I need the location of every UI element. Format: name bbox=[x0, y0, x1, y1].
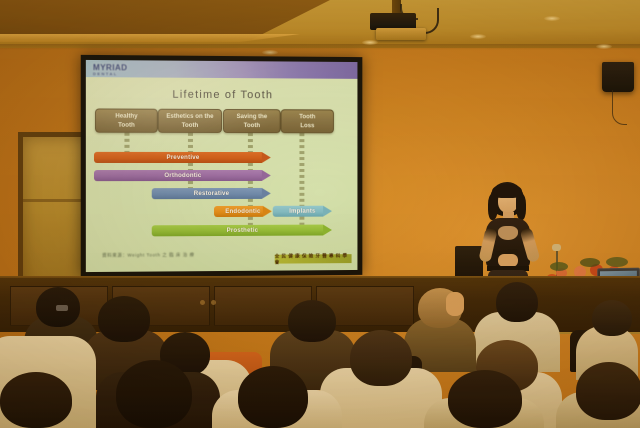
foliage bbox=[606, 257, 628, 267]
audience-head bbox=[350, 330, 412, 386]
bar-implants: Implants bbox=[273, 206, 332, 217]
bar-restorative: Restorative bbox=[152, 188, 271, 199]
downlight-icon bbox=[544, 16, 560, 21]
bar-arrow-tip bbox=[323, 206, 332, 217]
audience-head bbox=[448, 370, 522, 428]
bar-label: Endodontic bbox=[225, 208, 260, 215]
foliage bbox=[550, 262, 568, 271]
audience-head bbox=[98, 296, 150, 342]
bar-label: Restorative bbox=[194, 190, 229, 197]
audience-head bbox=[592, 300, 632, 336]
audience-head bbox=[238, 366, 308, 428]
audience-head bbox=[288, 300, 336, 342]
speaker-cable bbox=[612, 90, 627, 125]
bar-label: Preventive bbox=[166, 154, 199, 161]
wainscot-knob bbox=[200, 300, 205, 305]
audience-glasses-icon bbox=[56, 305, 68, 311]
connector-line bbox=[124, 133, 129, 153]
column-header-line2: Tooth bbox=[166, 121, 213, 130]
downlight-icon bbox=[470, 34, 486, 39]
bar-arrow-tip bbox=[262, 152, 271, 163]
slide-footer-badge: 全 民 健 康 保 險 牙 醫 專 科 學 會 bbox=[275, 254, 352, 263]
bar-prosthetic: Prosthetic bbox=[152, 225, 332, 237]
downlight-icon bbox=[596, 44, 612, 49]
bar-arrow-tip bbox=[262, 170, 271, 181]
projection-screen-frame: MYRIAD DENTAL Lifetime of Tooth Healthy … bbox=[81, 55, 363, 277]
column-header-line1: Healthy bbox=[115, 112, 137, 121]
audience-head bbox=[116, 360, 192, 428]
foliage bbox=[580, 258, 600, 267]
downlight-icon bbox=[362, 40, 378, 45]
downlight-icon bbox=[262, 50, 278, 55]
presenter-hair-side bbox=[488, 194, 498, 220]
bar-arrow-tip bbox=[263, 206, 272, 217]
bar-orthodontic: Orthodontic bbox=[94, 170, 271, 181]
column-header-line1: Esthetics on the bbox=[166, 112, 213, 121]
audience-head bbox=[576, 362, 640, 420]
audience-head bbox=[0, 372, 72, 428]
column-header-line1: Tooth bbox=[299, 112, 315, 121]
bar-label: Orthodontic bbox=[164, 172, 201, 179]
presentation-photo-scene: MYRIAD DENTAL Lifetime of Tooth Healthy … bbox=[0, 0, 640, 428]
bar-arrow-tip bbox=[262, 188, 271, 199]
bar-label: Implants bbox=[289, 208, 315, 215]
bar-preventive: Preventive bbox=[94, 152, 271, 163]
slide-footer-note: 資料來源：Weight Tooth 之 臨 床 治 療 bbox=[102, 252, 195, 259]
column-header-healthy-tooth: Healthy Tooth bbox=[95, 108, 158, 132]
presenter-hair-side bbox=[516, 194, 526, 220]
ceiling-edge-shadow bbox=[0, 44, 640, 50]
slide-title: Lifetime of Tooth bbox=[86, 88, 358, 101]
bar-endodontic: Endodontic bbox=[214, 206, 272, 217]
wall-speaker-icon bbox=[602, 62, 634, 92]
audience-head bbox=[496, 282, 538, 322]
bar-label: Prosthetic bbox=[227, 227, 259, 234]
slide-diagram: Healthy Tooth Esthetics on the Tooth Sav… bbox=[86, 108, 358, 239]
column-header-saving: Saving the Tooth bbox=[223, 109, 281, 133]
projected-slide: MYRIAD DENTAL Lifetime of Tooth Healthy … bbox=[86, 60, 358, 272]
column-header-line1: Saving the bbox=[237, 112, 268, 121]
column-header-line2: Tooth bbox=[237, 121, 268, 130]
slide-logo-subtext: DENTAL bbox=[93, 71, 148, 76]
slide-logo: MYRIAD DENTAL bbox=[93, 63, 148, 76]
microphone-icon bbox=[552, 244, 561, 251]
column-header-esthetics: Esthetics on the Tooth bbox=[158, 109, 222, 133]
column-header-line2: Tooth bbox=[115, 121, 137, 130]
column-header-tooth-loss: Tooth Loss bbox=[281, 109, 334, 133]
audience-hand bbox=[446, 292, 464, 316]
bar-arrow-tip bbox=[323, 225, 332, 236]
projector-base bbox=[376, 28, 426, 40]
wainscot-knob bbox=[211, 300, 216, 305]
column-header-line2: Loss bbox=[299, 121, 315, 130]
presenter-neckline bbox=[498, 226, 518, 240]
